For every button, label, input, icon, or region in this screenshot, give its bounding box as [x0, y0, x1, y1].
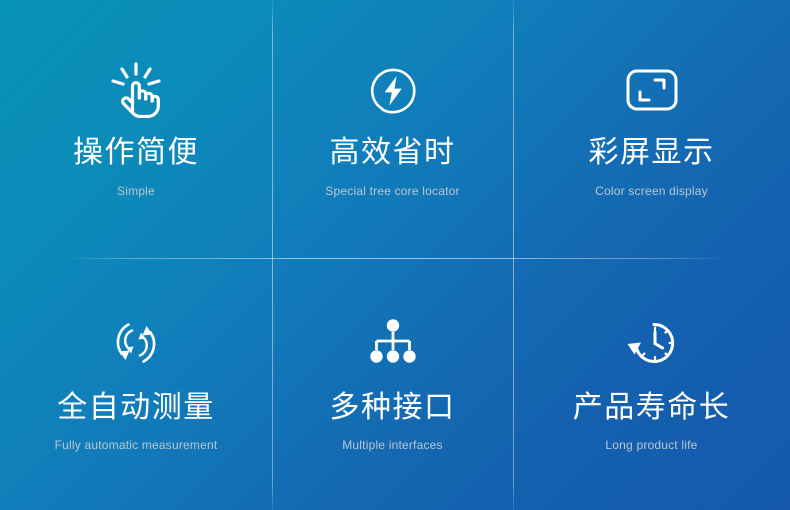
- feature-title: 彩屏显示: [589, 138, 715, 168]
- feature-highlights-panel: 操作简便 Simple 高效省时 Special tree core locat…: [0, 0, 790, 510]
- feature-subtitle: Simple: [117, 185, 155, 197]
- feature-cell-long-life[interactable]: 产品寿命长 Long product life: [513, 258, 790, 510]
- feature-title: 产品寿命长: [573, 393, 731, 423]
- feature-subtitle: Multiple interfaces: [342, 439, 443, 451]
- feature-title: 全自动测量: [57, 393, 215, 423]
- feature-cell-interfaces[interactable]: 多种接口 Multiple interfaces: [272, 258, 513, 510]
- feature-title: 操作简便: [73, 138, 199, 168]
- feature-subtitle: Color screen display: [595, 185, 708, 197]
- feature-title: 高效省时: [330, 138, 456, 168]
- feature-subtitle: Special tree core locator: [325, 185, 459, 197]
- feature-subtitle: Fully automatic measurement: [55, 439, 218, 451]
- auto-sync-arrows-icon: [110, 315, 162, 371]
- grid-divider-horizontal: [0, 258, 790, 259]
- feature-cell-efficient[interactable]: 高效省时 Special tree core locator: [272, 0, 513, 258]
- node-tree-icon: [368, 315, 418, 371]
- color-screen-icon: [624, 62, 680, 118]
- feature-subtitle: Long product life: [605, 439, 697, 451]
- lightning-bolt-circle-icon: [368, 62, 418, 118]
- feature-cell-simple[interactable]: 操作简便 Simple: [0, 0, 272, 258]
- feature-cell-auto-measure[interactable]: 全自动测量 Fully automatic measurement: [0, 258, 272, 510]
- tap-hand-icon: [109, 62, 163, 118]
- grid-divider-vertical-right: [513, 0, 514, 510]
- grid-divider-vertical-left: [272, 0, 273, 510]
- clock-history-icon: [624, 315, 680, 371]
- feature-title: 多种接口: [330, 393, 456, 423]
- feature-cell-color-screen[interactable]: 彩屏显示 Color screen display: [513, 0, 790, 258]
- feature-grid: 操作简便 Simple 高效省时 Special tree core locat…: [0, 0, 790, 510]
